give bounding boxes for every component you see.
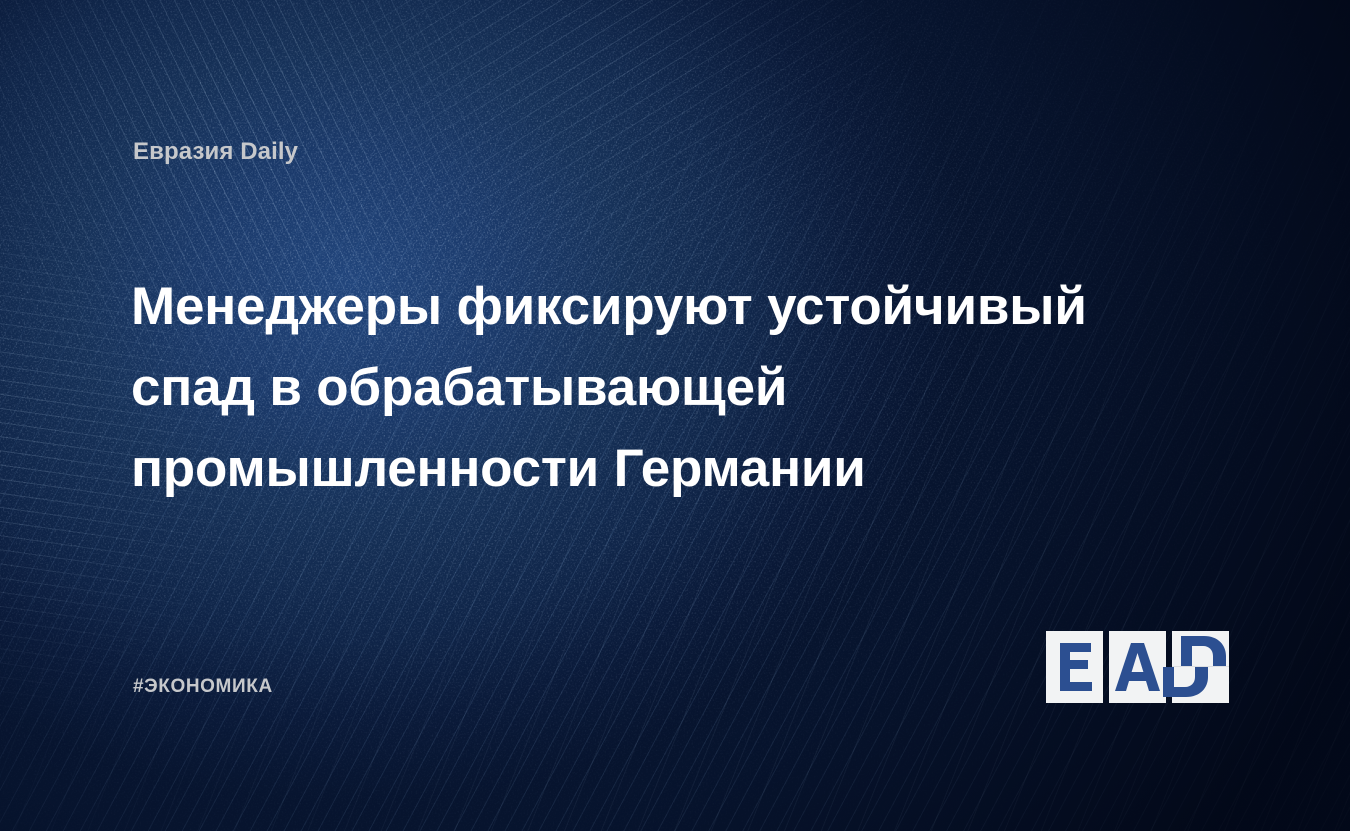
page-title: Менеджеры фиксируют устойчивый спад в об… bbox=[131, 266, 1141, 509]
headline-line-1: Менеджеры фиксируют устойчивый bbox=[131, 266, 1141, 347]
headline-line-2: спад в обрабатывающей bbox=[131, 347, 1141, 428]
card-content: Евразия Daily Менеджеры фиксируют устойч… bbox=[0, 0, 1350, 831]
brand-name: Евразия Daily bbox=[133, 138, 298, 166]
social-share-card: Евразия Daily Менеджеры фиксируют устойч… bbox=[0, 0, 1350, 831]
logo-letter-e bbox=[1060, 643, 1092, 691]
ead-logo bbox=[1044, 628, 1230, 706]
logo-tile-a bbox=[1109, 631, 1166, 703]
headline-line-3: промышленности Германии bbox=[131, 428, 1141, 509]
logo-tile-d-seam bbox=[1172, 666, 1229, 667]
category-hashtag: #ЭКОНОМИКА bbox=[133, 676, 273, 698]
